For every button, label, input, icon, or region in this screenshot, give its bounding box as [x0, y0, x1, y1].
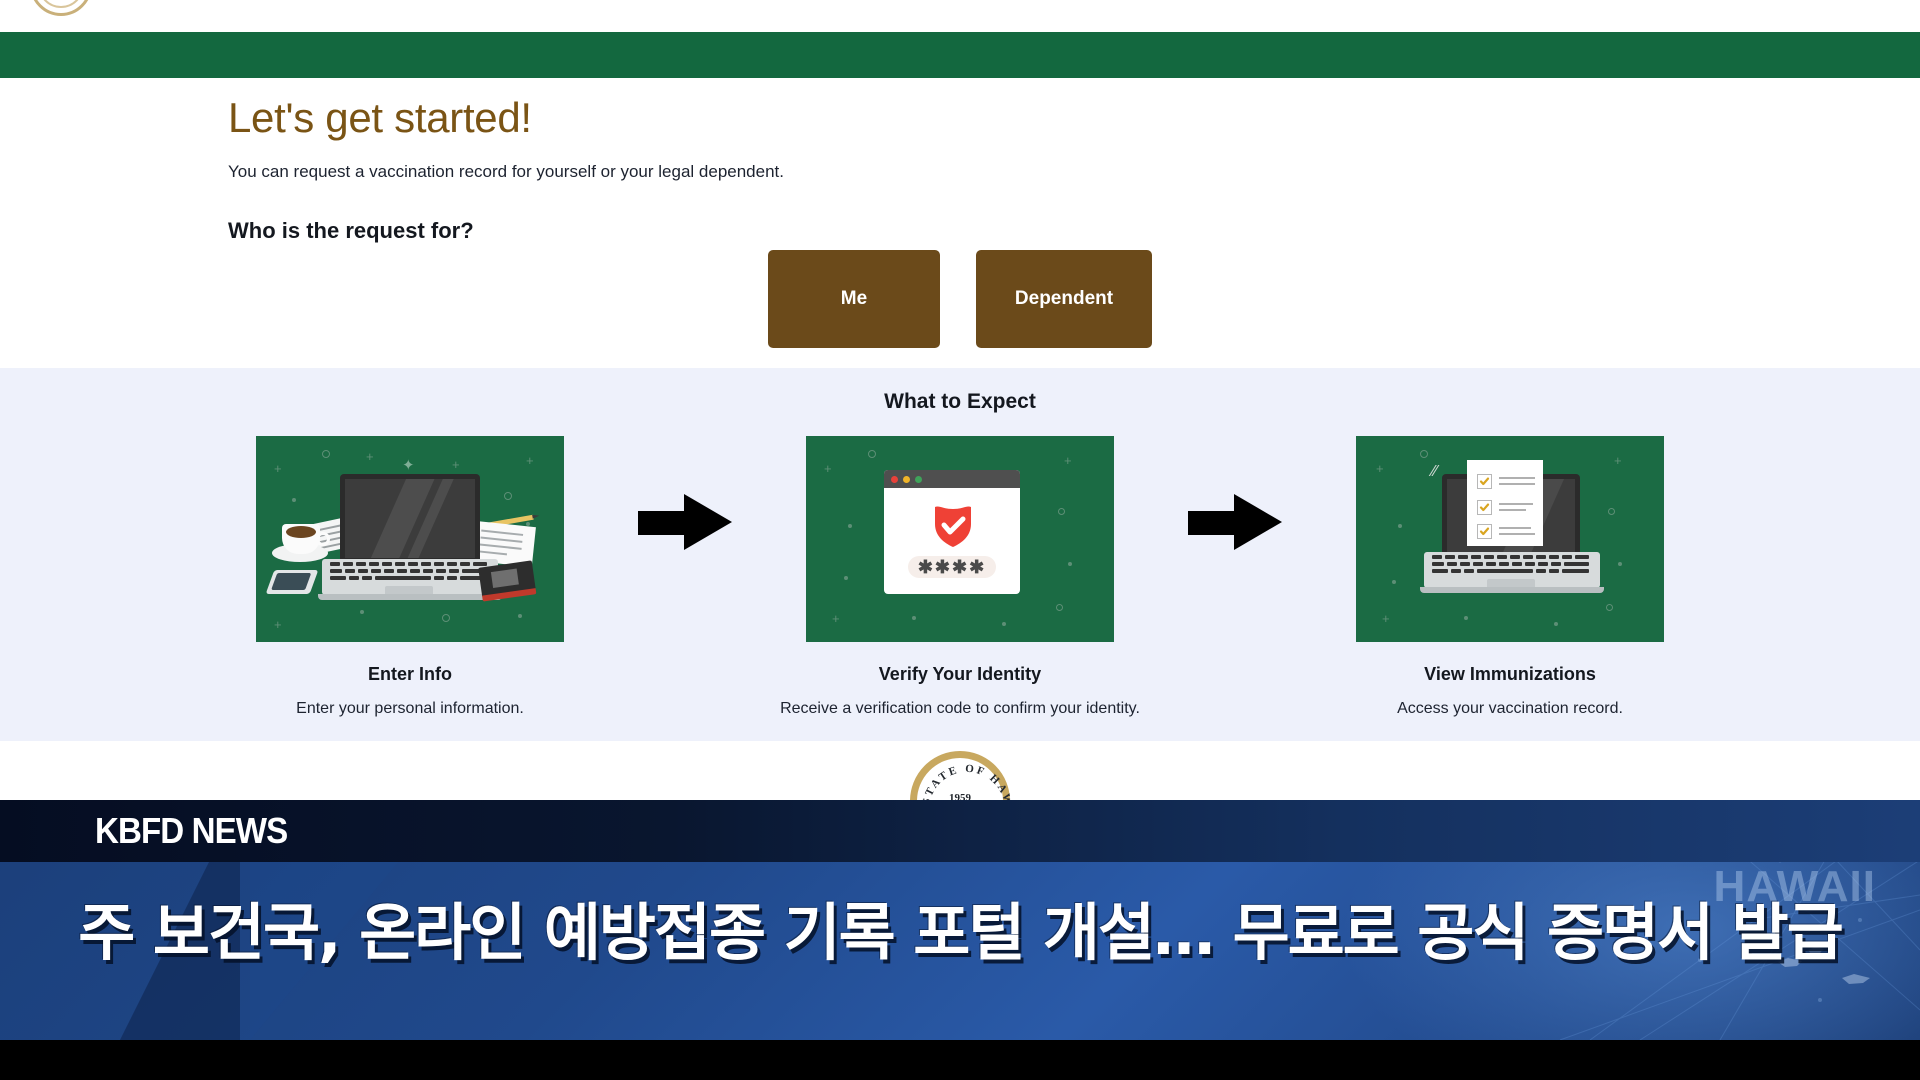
step-enter-info: + + + + + ✦	[195, 436, 625, 718]
hero-section: Let's get started! You can request a vac…	[0, 78, 1920, 368]
step-title: Enter Info	[368, 664, 452, 685]
browser-titlebar	[884, 470, 1020, 488]
step-description: Access your vaccination record.	[1397, 700, 1623, 718]
checkbox-icon	[1477, 524, 1492, 539]
steps-row: + + + + + ✦	[0, 436, 1920, 718]
news-banner: KBFD NEWS HAWAII 주 보건국, 온라인 예방접종 기록 포털 개…	[0, 800, 1920, 1040]
page-title: Let's get started!	[228, 94, 1728, 142]
news-logo-bar: KBFD NEWS	[0, 800, 1920, 862]
screenshot-root: Let's get started! You can request a vac…	[0, 0, 1920, 1080]
step-description: Enter your personal information.	[296, 700, 524, 718]
browser-shield-password-illustration: + + +	[806, 436, 1114, 642]
page-top-strip	[0, 0, 1920, 32]
site-header-band	[0, 32, 1920, 78]
laptop-keyboard	[330, 562, 490, 584]
hero-subtitle: You can request a vaccination record for…	[228, 162, 1728, 182]
arrow-right-icon	[638, 494, 732, 550]
smartphone-icon	[266, 570, 319, 594]
window-minimize-dot	[903, 476, 910, 483]
request-for-question: Who is the request for?	[228, 218, 1728, 244]
laptop-lid	[340, 474, 480, 560]
kbfd-news-logo: KBFD NEWS	[95, 810, 287, 852]
step-view-immunizations: + + + ⁄⁄	[1295, 436, 1725, 718]
step-verify-identity: + + +	[745, 436, 1175, 718]
request-for-buttons: Me Dependent	[0, 250, 1920, 348]
checkbox-icon	[1477, 474, 1492, 489]
bottom-letterbox	[0, 1040, 1920, 1080]
shield-check-icon	[932, 502, 974, 548]
dependent-button[interactable]: Dependent	[976, 250, 1152, 348]
window-maximize-dot	[915, 476, 922, 483]
notebook-icon	[478, 560, 536, 597]
state-of-hawaii-seal: STATE OF HAWAII 1959	[910, 751, 1010, 800]
step-title: Verify Your Identity	[879, 664, 1041, 685]
hero-content: Let's get started! You can request a vac…	[228, 78, 1728, 244]
laptop-checklist-illustration: + + + ⁄⁄	[1356, 436, 1664, 642]
laptop-keyboard	[1432, 555, 1592, 577]
step-description: Receive a verification code to confirm y…	[780, 700, 1140, 718]
arrow-2	[1175, 436, 1295, 550]
browser-window: ✱✱✱✱	[884, 470, 1020, 594]
news-headline: 주 보건국, 온라인 예방접종 기록 포털 개설… 무료로 공식 증명서 발급	[0, 882, 1920, 972]
arrow-1	[625, 436, 745, 550]
what-to-expect-section: What to Expect + + + + +	[0, 368, 1920, 741]
footer-seal-area: STATE OF HAWAII 1959	[0, 741, 1920, 800]
what-to-expect-title: What to Expect	[0, 368, 1920, 414]
me-button[interactable]: Me	[768, 250, 940, 348]
seal-year: 1959	[917, 792, 1003, 800]
laptop-desk-illustration: + + + + + ✦	[256, 436, 564, 642]
window-close-dot	[891, 476, 898, 483]
partial-seal-icon	[30, 0, 92, 16]
checklist-document	[1467, 460, 1543, 546]
step-title: View Immunizations	[1424, 664, 1596, 685]
checkbox-icon	[1477, 500, 1492, 515]
vaccination-record-page: Let's get started! You can request a vac…	[0, 0, 1920, 800]
laptop-screen	[345, 479, 475, 558]
password-field: ✱✱✱✱	[908, 556, 996, 578]
arrow-right-icon	[1188, 494, 1282, 550]
